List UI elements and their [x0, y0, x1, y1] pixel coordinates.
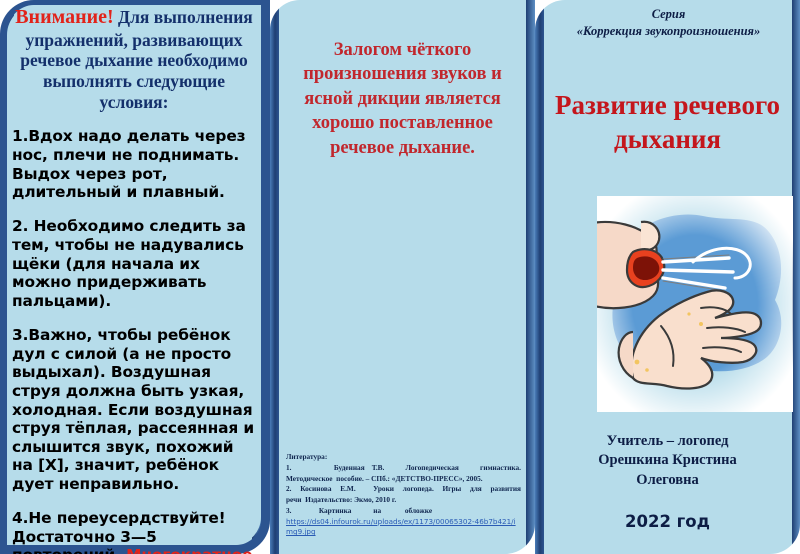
literature-title: Литература: — [286, 452, 521, 463]
rule-text: 2. Необходимо следить за тем, чтобы не н… — [12, 217, 246, 310]
author-role: Учитель – логопед — [549, 432, 786, 451]
publication-year: 2022 год — [549, 512, 786, 531]
cover-title: Развитие речевого дыхания — [549, 88, 786, 156]
key-quote: Залогом чёткого произношения звуков и яс… — [288, 38, 517, 160]
attention-heading: Внимание! Для выполнения упражнений, раз… — [10, 6, 258, 112]
author-name-line-1: Орешкина Кристина — [549, 451, 786, 470]
panel-right-content: Серия «Коррекция звукопроизношения» Разв… — [535, 0, 800, 554]
brochure-spread: Внимание! Для выполнения упражнений, раз… — [0, 0, 800, 554]
panel-middle-content: Залогом чёткого произношения звуков и яс… — [270, 0, 535, 554]
attention-word: Внимание! — [15, 6, 113, 28]
literature-entry-1: 1. Буденная Т.В. Логопедическая гимнасти… — [286, 463, 521, 485]
series-label: Серия — [551, 6, 786, 23]
rule-text: 1.Вдох надо делать через нос, плечи не п… — [12, 127, 246, 201]
panel-middle-quote: Залогом чёткого произношения звуков и яс… — [270, 0, 535, 554]
mouth-blowing-on-hand-illustration — [597, 196, 793, 412]
literature-entry-2: 2. Косинова Е.М. Уроки логопеда. Игры дл… — [286, 484, 521, 506]
rules-list: 1.Вдох надо делать через нос, плечи не п… — [12, 112, 258, 554]
literature-block: Литература: 1. Буденная Т.В. Логопедичес… — [286, 452, 521, 538]
rule-item-1: 1.Вдох надо делать через нос, плечи не п… — [12, 127, 258, 202]
series-heading: Серия «Коррекция звукопроизношения» — [551, 6, 786, 41]
panel-right-cover: Серия «Коррекция звукопроизношения» Разв… — [535, 0, 800, 554]
literature-image-link[interactable]: https://ds04.infourok.ru/uploads/ex/1173… — [286, 517, 521, 538]
rule-item-3: 3.Важно, чтобы ребёнок дул с силой (а не… — [12, 326, 258, 494]
series-name: «Коррекция звукопроизношения» — [551, 23, 786, 40]
panel-left-content: Внимание! Для выполнения упражнений, раз… — [0, 0, 270, 554]
rule-item-4: 4.Не переусердствуйте! Достаточно 3—5 по… — [12, 509, 258, 554]
author-block: Учитель – логопед Орешкина Кристина Олег… — [549, 432, 786, 490]
author-name-line-2: Олеговна — [549, 471, 786, 490]
rule-item-2: 2. Необходимо следить за тем, чтобы не н… — [12, 217, 258, 310]
rule-text: 3.Важно, чтобы ребёнок дул с силой (а не… — [12, 326, 254, 493]
panel-left-conditions: Внимание! Для выполнения упражнений, раз… — [0, 0, 270, 554]
literature-entry-3: 3. Картинка на обложке — [286, 506, 521, 517]
